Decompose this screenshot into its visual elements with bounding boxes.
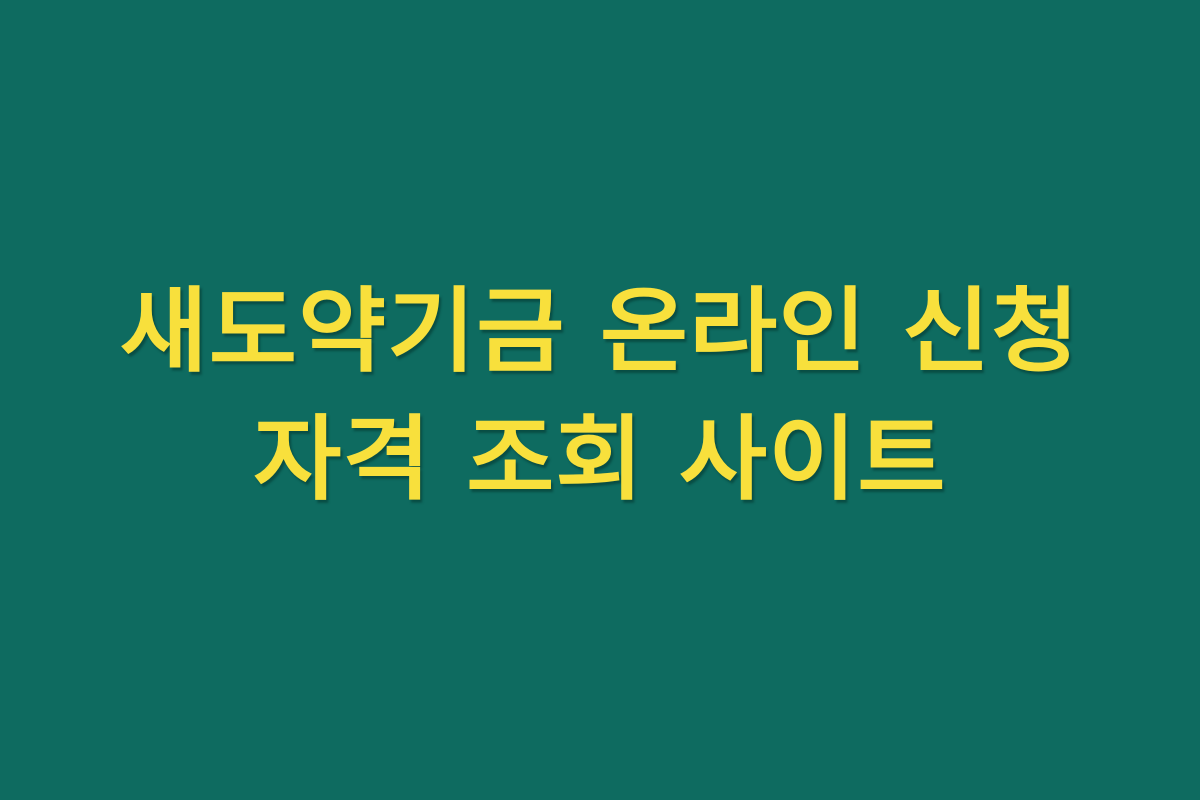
title-line-1: 새도약기금 온라인 신청 — [0, 286, 1200, 378]
title-line-2: 자격 조회 사이트 — [0, 414, 1200, 506]
page-title: 새도약기금 온라인 신청 자격 조회 사이트 — [0, 286, 1200, 506]
title-banner: 새도약기금 온라인 신청 자격 조회 사이트 — [0, 0, 1200, 800]
